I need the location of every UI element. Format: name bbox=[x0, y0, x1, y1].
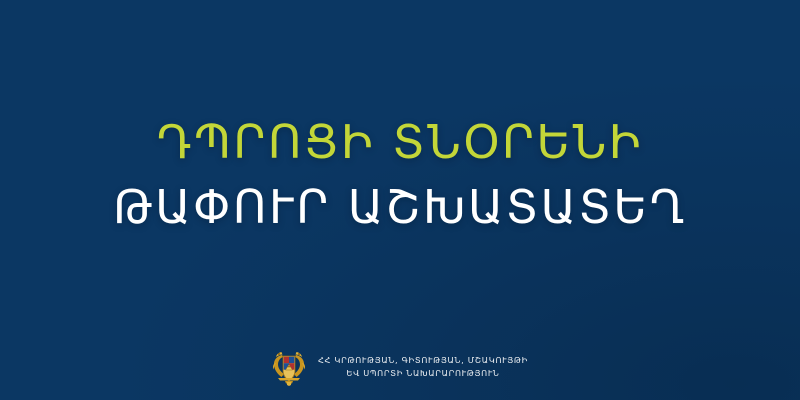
ministry-name-line-2: ԵՎ ՍՊՈՐՏԻ ՆԱԽԱՐԱՐՈՒԹՅՈՒՆ bbox=[346, 367, 499, 380]
headline-line-vacancy: ԹԱՓՈՒՐ ԱՇԽԱՏԱՏԵՂ bbox=[0, 181, 800, 234]
ministry-name-line-1: ՀՀ ԿՐԹՈՒԹՅԱՆ, ԳԻՏՈՒԹՅԱՆ, ՄՇԱԿՈՒՅԹԻ bbox=[318, 354, 528, 367]
announcement-banner: ԴՊՐՈՑԻ ՏՆՕՐԵՆԻ ԹԱՓՈՒՐ ԱՇԽԱՏԱՏԵՂ bbox=[0, 0, 800, 400]
footer-lockup: ՀՀ ԿՐԹՈՒԹՅԱՆ, ԳԻՏՈՒԹՅԱՆ, ՄՇԱԿՈՒՅԹԻ ԵՎ ՍՊ… bbox=[0, 348, 800, 386]
ministry-name: ՀՀ ԿՐԹՈՒԹՅԱՆ, ԳԻՏՈՒԹՅԱՆ, ՄՇԱԿՈՒՅԹԻ ԵՎ ՍՊ… bbox=[318, 354, 528, 381]
armenia-coat-of-arms-icon bbox=[272, 348, 306, 386]
headline-line-primary-position: ԴՊՐՈՑԻ ՏՆՕՐԵՆԻ bbox=[0, 116, 800, 169]
headline-block: ԴՊՐՈՑԻ ՏՆՕՐԵՆԻ ԹԱՓՈՒՐ ԱՇԽԱՏԱՏԵՂ bbox=[0, 116, 800, 235]
